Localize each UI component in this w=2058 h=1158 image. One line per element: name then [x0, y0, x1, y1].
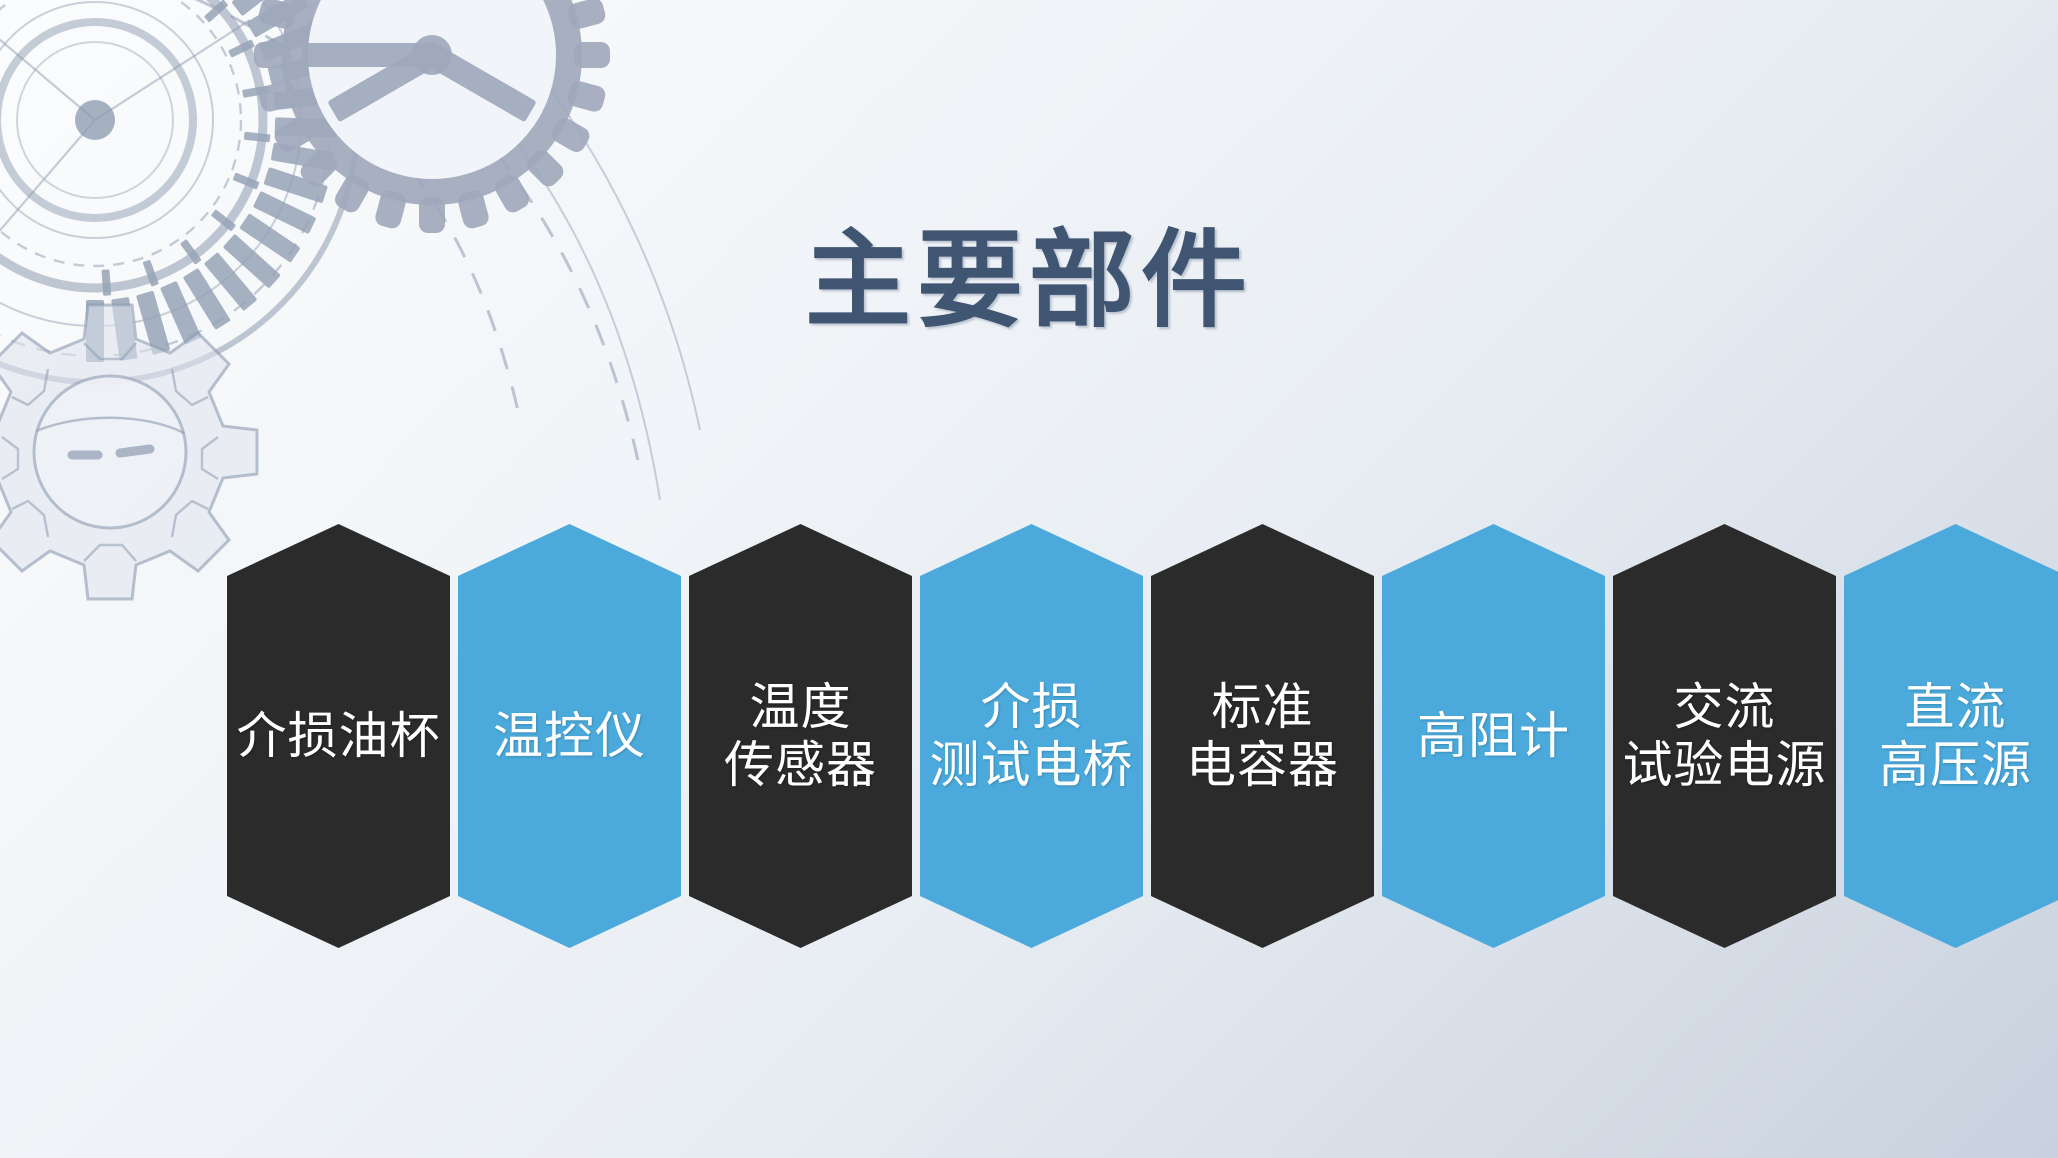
- large-gear-icon: [254, 0, 610, 233]
- outline-gear-icon: [0, 305, 257, 599]
- component-hexagon[interactable]: 温度 传感器: [689, 524, 912, 948]
- component-hexagon-label: 标准 电容器: [1182, 678, 1343, 794]
- component-hexagon-label: 温度 传感器: [720, 678, 881, 794]
- component-hexagon[interactable]: 交流 试验电源: [1613, 524, 1836, 948]
- component-hexagon-label: 直流 高压源: [1875, 678, 2036, 794]
- component-hexagon-label: 温控仪: [489, 707, 650, 765]
- component-hexagon-label: 高阻计: [1413, 707, 1574, 765]
- slide-canvas: 主要部件 介损油杯温控仪温度 传感器介损 测试电桥标准 电容器高阻计交流 试验电…: [0, 0, 2058, 1158]
- component-hexagon[interactable]: 直流 高压源: [1844, 524, 2058, 948]
- component-hexagon[interactable]: 介损油杯: [227, 524, 450, 948]
- component-hexagon-label: 介损 测试电桥: [926, 678, 1138, 794]
- component-hexagon-row: 介损油杯温控仪温度 传感器介损 测试电桥标准 电容器高阻计交流 试验电源直流 高…: [227, 524, 2058, 948]
- component-hexagon[interactable]: 标准 电容器: [1151, 524, 1374, 948]
- component-hexagon[interactable]: 温控仪: [458, 524, 681, 948]
- component-hexagon[interactable]: 高阻计: [1382, 524, 1605, 948]
- page-title: 主要部件: [0, 228, 2058, 334]
- component-hexagon-label: 交流 试验电源: [1619, 678, 1831, 794]
- component-hexagon-label: 介损油杯: [233, 707, 445, 765]
- component-hexagon[interactable]: 介损 测试电桥: [920, 524, 1143, 948]
